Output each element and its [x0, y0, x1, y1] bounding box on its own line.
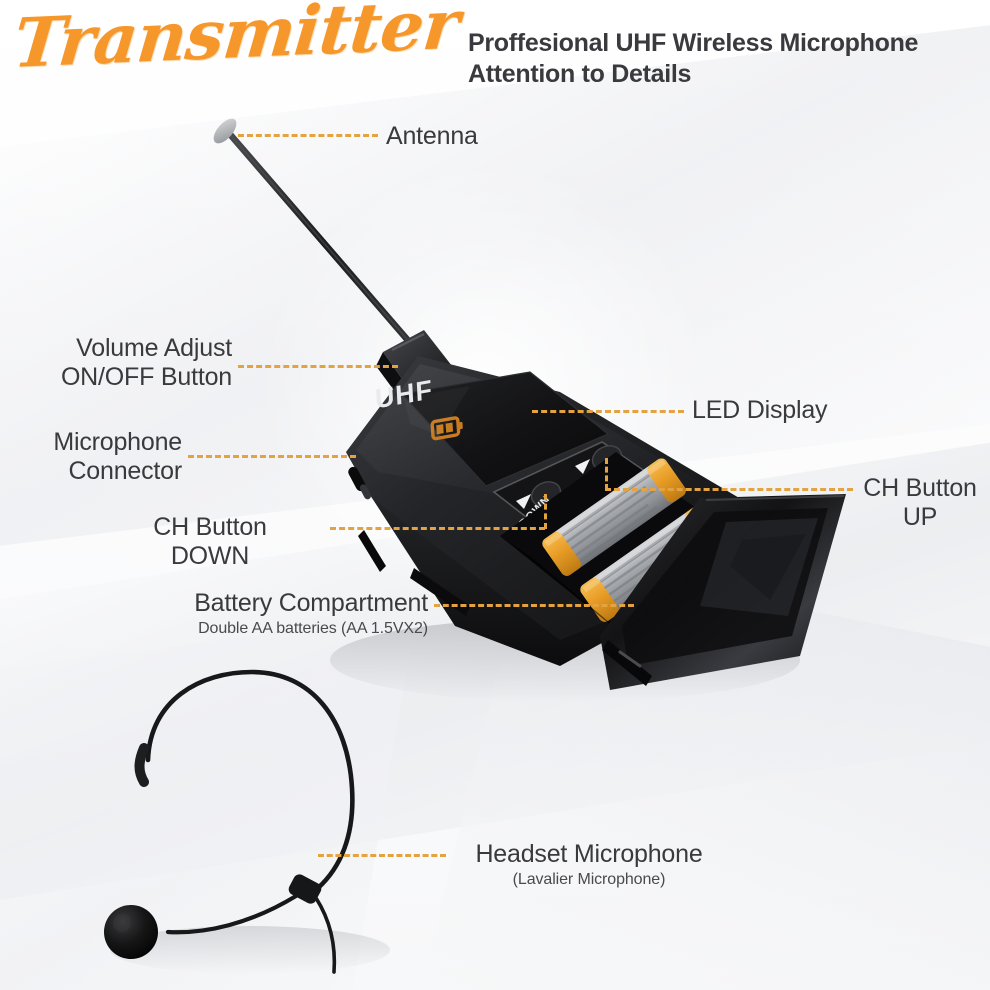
background-polygon-left — [0, 614, 416, 990]
battery-1-print-line-2 — [566, 486, 646, 543]
callout-ch-button-up-title-2: UP — [850, 503, 990, 532]
body-side-clip — [358, 530, 386, 572]
mic-connector-rim — [359, 483, 373, 500]
battery-1-highlight — [544, 459, 665, 547]
callout-ch-button-down-title-1: CH Button — [96, 513, 324, 542]
led-display-part: UHF — [374, 372, 608, 486]
battery-cell-2 — [578, 502, 726, 624]
volume-knob-side — [376, 352, 410, 404]
mic-connector-socket — [346, 465, 367, 493]
callout-ch-button-up-title-1: CH Button — [850, 474, 990, 503]
volume-knob-top — [383, 330, 452, 390]
battery-cell-1 — [540, 456, 688, 578]
antenna-tip — [209, 115, 240, 147]
callout-volume-adjust-title-2: ON/OFF Button — [0, 363, 232, 392]
battery-1-negative-cap — [645, 456, 688, 505]
antenna-rod — [228, 132, 418, 352]
leader-antenna — [238, 134, 378, 137]
battery-2-print-line-4 — [613, 550, 687, 603]
ch-up-arrow-icon — [575, 459, 590, 474]
battery-2-print-line-3 — [609, 535, 694, 596]
display-uhf-logo: UHF — [374, 373, 433, 414]
ch-panel-plate — [494, 442, 652, 534]
ch-button-up-control[interactable]: UP — [575, 441, 625, 494]
headset-junction-block — [287, 872, 324, 906]
headset-boom-arm — [168, 896, 296, 932]
headset-foam-windscreen — [104, 905, 158, 959]
leader-microphone-connector — [188, 455, 356, 458]
ch-button-down-control[interactable]: DOWN — [516, 477, 564, 530]
volume-knob-highlight — [392, 334, 424, 350]
infographic-canvas: Transmitter Proffesional UHF Wireless Mi… — [0, 0, 990, 990]
battery-2-print-line-5 — [617, 552, 695, 608]
callout-headset-microphone-title: Headset Microphone — [440, 840, 738, 869]
background-glow — [257, 158, 712, 613]
microphone-connector-port — [346, 465, 372, 500]
leader-ch-button-down-vertical — [544, 494, 547, 529]
battery-1-print-line-3 — [571, 489, 656, 550]
battery-door-gloss — [700, 518, 818, 616]
battery-2-body — [578, 502, 726, 624]
battery-bay — [500, 452, 742, 634]
callout-headset-microphone: Headset Microphone (Lavalier Microphone) — [440, 840, 738, 890]
battery-bay-wall — [500, 536, 640, 648]
headset-cable — [316, 898, 334, 972]
headset-shadow — [110, 926, 390, 974]
callout-microphone-connector: Microphone Connector — [0, 428, 182, 486]
volume-knob-part — [376, 330, 452, 404]
battery-door-inner — [622, 508, 828, 666]
leader-ch-button-up-horizontal — [605, 488, 853, 491]
display-glare — [404, 386, 470, 436]
headset-foam-highlight — [113, 914, 131, 932]
callout-ch-button-down: CH Button DOWN — [96, 513, 324, 571]
brand-title: Transmitter — [11, 0, 462, 78]
led-display-screen — [402, 372, 608, 486]
ch-up-button-cap[interactable] — [589, 441, 626, 474]
battery-2-positive-cap — [578, 576, 621, 625]
battery-2-print-line-1 — [600, 520, 689, 583]
callout-volume-adjust-title-1: Volume Adjust — [0, 334, 232, 363]
leader-headset-microphone — [318, 854, 446, 857]
battery-door-outer[interactable] — [600, 494, 846, 690]
battery-2-print-line-2 — [604, 532, 684, 589]
battery-1-print-line-5 — [579, 506, 657, 562]
leader-led-display — [532, 410, 684, 413]
leader-battery-compartment — [434, 604, 634, 607]
callout-ch-button-up: CH Button UP — [850, 474, 990, 532]
ch-button-panel: DOWN UP — [494, 441, 652, 534]
battery-2-highlight — [582, 505, 703, 593]
battery-1-print-line-1 — [562, 474, 651, 537]
battery-compartment — [500, 452, 742, 648]
leader-ch-button-down-horizontal — [330, 527, 545, 530]
callout-led-display-title: LED Display — [692, 396, 827, 425]
ch-down-arrow-icon — [516, 494, 531, 509]
headline-block: Proffesional UHF Wireless Microphone Att… — [468, 28, 984, 90]
header: Transmitter Proffesional UHF Wireless Mi… — [0, 0, 990, 112]
callout-antenna-title: Antenna — [386, 122, 478, 151]
body-upper-plate — [356, 364, 700, 520]
callout-battery-compartment-title: Battery Compartment — [60, 589, 428, 618]
battery-door-top-edge — [706, 496, 844, 500]
battery-door-latch — [620, 652, 640, 666]
callout-volume-adjust: Volume Adjust ON/OFF Button — [0, 334, 232, 392]
callout-battery-compartment-sub: Double AA batteries (AA 1.5VX2) — [60, 618, 428, 639]
ch-up-label: UP — [579, 473, 600, 494]
callout-microphone-connector-title-1: Microphone — [0, 428, 182, 457]
battery-1-body — [540, 456, 688, 578]
leader-volume-adjust — [238, 365, 398, 368]
battery-1-positive-cap — [540, 530, 583, 579]
headset-band — [148, 672, 352, 888]
battery-1-print-line-4 — [575, 504, 649, 557]
leader-ch-button-up-vertical — [605, 458, 608, 490]
callout-battery-compartment: Battery Compartment Double AA batteries … — [60, 589, 428, 639]
callout-headset-microphone-sub: (Lavalier Microphone) — [440, 869, 738, 890]
callout-antenna: Antenna — [386, 122, 478, 151]
ch-down-label: DOWN — [518, 494, 554, 530]
battery-2-negative-cap — [683, 502, 726, 551]
antenna-rod-highlight — [228, 132, 418, 352]
battery-door-hinge-tab — [602, 640, 652, 686]
battery-indicator-icon — [432, 417, 463, 439]
background-polygon-right — [416, 554, 990, 990]
callout-microphone-connector-title-2: Connector — [0, 457, 182, 486]
ch-down-button-cap[interactable] — [528, 477, 565, 510]
headset-microphone-part — [104, 672, 352, 972]
headline-line-2: Attention to Details — [468, 59, 984, 90]
battery-door-recess — [730, 534, 806, 600]
battery-door[interactable] — [600, 494, 846, 690]
headline-line-1: Proffesional UHF Wireless Microphone — [468, 28, 984, 59]
callout-led-display: LED Display — [692, 396, 827, 425]
callout-ch-button-down-title-2: DOWN — [96, 542, 324, 571]
headset-ear-pad — [140, 748, 145, 782]
